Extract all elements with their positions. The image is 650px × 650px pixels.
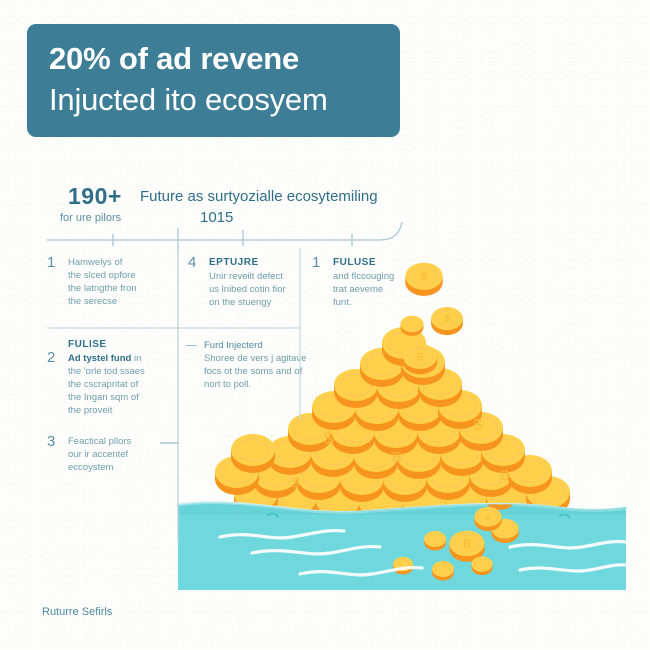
svg-text:B: B [500, 467, 509, 483]
infographic-page: $ $ B $ B $ $ B [0, 0, 650, 650]
coin-ecosystem-illustration: $ $ B $ B $ $ B [0, 0, 650, 650]
svg-text:$: $ [292, 474, 300, 490]
svg-text:$: $ [474, 417, 483, 434]
svg-text:B: B [463, 536, 471, 550]
svg-text:B: B [416, 351, 423, 363]
svg-text:$: $ [420, 269, 427, 284]
svg-text:B: B [392, 449, 402, 466]
falling-coins: $ $ B [401, 263, 463, 375]
svg-text:$: $ [324, 429, 334, 448]
svg-text:$: $ [444, 314, 450, 325]
svg-text:B: B [486, 513, 491, 522]
coin-pile: $ $ B $ B [215, 327, 570, 526]
